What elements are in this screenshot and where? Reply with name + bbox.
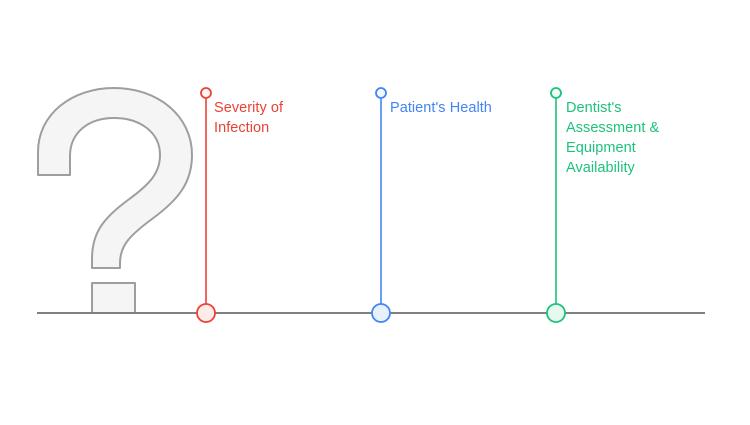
marker-top-dot-severity-of-infection[interactable]	[201, 88, 211, 98]
timeline-diagram	[0, 0, 750, 425]
marker-label-severity-of-infection: Severity of Infection	[214, 98, 283, 138]
marker-top-dot-patients-health[interactable]	[376, 88, 386, 98]
marker-base-dot-severity-of-infection[interactable]	[197, 304, 215, 322]
marker-top-dot-dentists-assessment[interactable]	[551, 88, 561, 98]
marker-base-dot-patients-health[interactable]	[372, 304, 390, 322]
marker-dentists-assessment-equipment-availability[interactable]	[547, 88, 565, 322]
marker-label-dentists-assessment-equipment-availability: Dentist's Assessment & Equipment Availab…	[566, 98, 659, 178]
question-mark-icon	[38, 88, 192, 313]
marker-label-patients-health: Patient's Health	[390, 98, 492, 118]
diagram-canvas: Severity of Infection Patient's Health D…	[0, 0, 750, 425]
marker-severity-of-infection[interactable]	[197, 88, 215, 322]
marker-patients-health[interactable]	[372, 88, 390, 322]
marker-base-dot-dentists-assessment[interactable]	[547, 304, 565, 322]
